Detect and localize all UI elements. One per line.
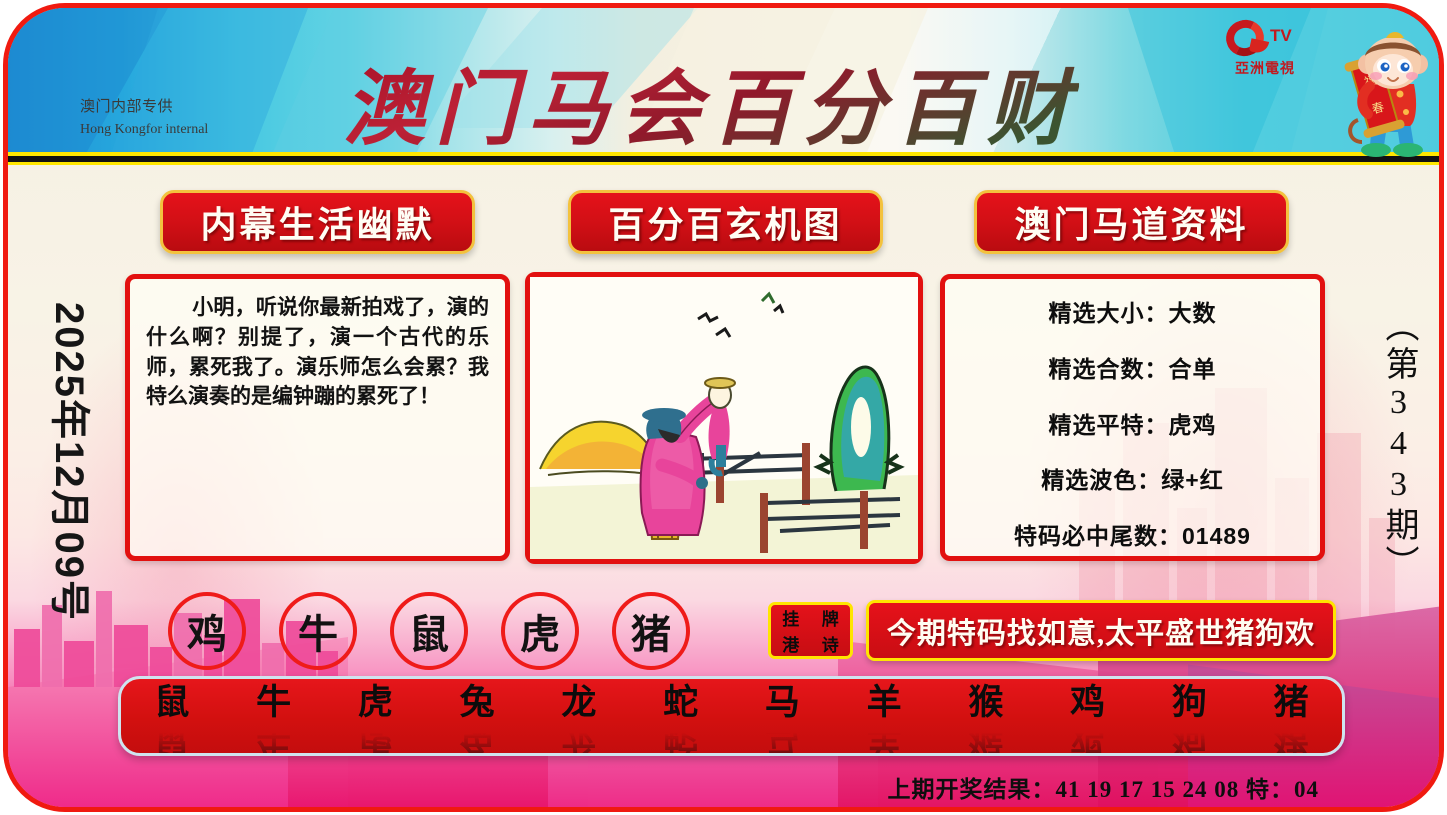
info-row: 精选合数：合单 (957, 345, 1308, 389)
zodiac-strip-item[interactable]: 马马 (743, 685, 821, 755)
guapai-label-box[interactable]: 挂 牌 港 诗 (768, 602, 853, 659)
section-title-joke[interactable]: 内幕生活幽默 (160, 190, 475, 254)
poem-banner[interactable]: 今期特码找如意,太平盛世猪狗欢 (866, 600, 1336, 661)
zodiac-strip-reflection: 马 (743, 718, 821, 755)
info-card: 精选大小：大数 精选合数：合单 精选平特：虎鸡 精选波色：绿+红 特码必中尾数：… (940, 274, 1325, 561)
zodiac-strip-reflection: 虎 (336, 718, 414, 755)
zodiac-strip-reflection: 牛 (235, 718, 313, 755)
section-title-picture-label: 百分百玄机图 (608, 196, 842, 248)
zodiac-strip-item[interactable]: 羊羊 (845, 685, 923, 755)
zodiac-pick-label: 鼠 (409, 602, 449, 660)
zodiac-pick-label: 虎 (520, 602, 560, 660)
guapai-char: 港 (782, 631, 799, 656)
last-draw-result: 上期开奖结果：41 19 17 15 24 08 特：04 (888, 770, 1320, 804)
zodiac-strip-reflection: 狗 (1150, 718, 1228, 755)
zodiac-pick-label: 牛 (298, 602, 338, 660)
zodiac-strip-reflection: 猪 (1252, 718, 1330, 755)
atv-tv-label: TV (1270, 26, 1292, 46)
guapai-char: 诗 (822, 631, 839, 656)
zodiac-strip-label: 蛇 (642, 685, 720, 722)
zodiac-pick-label: 猪 (631, 602, 671, 660)
zodiac-strip-reflection: 羊 (845, 718, 923, 755)
poem-banner-text: 今期特码找如意,太平盛世猪狗欢 (887, 610, 1315, 652)
section-title-info[interactable]: 澳门马道资料 (974, 190, 1289, 254)
zodiac-strip-item[interactable]: 龙龙 (540, 685, 618, 755)
header-subtitle-en: Hong Kongfor internal (80, 119, 320, 140)
zodiac-strip-label: 牛 (235, 685, 313, 722)
zodiac-strip-reflection: 鸡 (1049, 718, 1127, 755)
zodiac-strip-reflection: 龙 (540, 718, 618, 755)
xuanji-illustration (530, 277, 918, 559)
section-title-picture[interactable]: 百分百玄机图 (568, 190, 883, 254)
mascot-monkey-icon: 福 春 (1340, 24, 1440, 164)
zodiac-strip-item[interactable]: 猴猴 (947, 685, 1025, 755)
zodiac-picks: 鸡 牛 鼠 虎 猪 (168, 592, 690, 670)
info-row: 精选大小：大数 (957, 289, 1308, 333)
guapai-char: 挂 (782, 605, 799, 630)
zodiac-strip-item[interactable]: 蛇蛇 (642, 685, 720, 755)
zodiac-strip-label: 兔 (438, 685, 516, 722)
section-title-joke-label: 内幕生活幽默 (200, 196, 434, 248)
zodiac-strip-reflection: 猴 (947, 718, 1025, 755)
zodiac-strip-item[interactable]: 狗狗 (1150, 685, 1228, 755)
zodiac-strip-label: 猴 (947, 685, 1025, 722)
zodiac-strip: 鼠鼠 牛牛 虎虎 兔兔 龙龙 蛇蛇 马马 羊羊 猴猴 鸡鸡 狗狗 猪猪 (118, 676, 1345, 756)
atv-ring-icon (1221, 15, 1268, 61)
info-row: 精选波色：绿+红 (957, 456, 1308, 500)
header-subtitle-cn: 澳门内部专供 (80, 96, 320, 119)
section-title-info-label: 澳门马道资料 (1014, 196, 1248, 248)
issue-number: （第343期） (1377, 308, 1423, 583)
zodiac-pick-label: 鸡 (187, 602, 227, 660)
info-row: 特码必中尾数：01489 (957, 512, 1308, 556)
page-title: 澳门马会百分百财 (343, 42, 1079, 161)
zodiac-pick[interactable]: 虎 (501, 592, 579, 670)
zodiac-strip-label: 马 (743, 685, 821, 722)
zodiac-strip-item[interactable]: 牛牛 (235, 685, 313, 755)
zodiac-strip-reflection: 蛇 (642, 718, 720, 755)
poster-frame: 澳门内部专供 Hong Kongfor internal 澳门马会百分百财 TV… (3, 3, 1444, 812)
zodiac-strip-reflection: 兔 (438, 718, 516, 755)
zodiac-pick[interactable]: 牛 (279, 592, 357, 670)
zodiac-strip-item[interactable]: 兔兔 (438, 685, 516, 755)
zodiac-strip-item[interactable]: 虎虎 (336, 685, 414, 755)
header-subtitle: 澳门内部专供 Hong Kongfor internal (80, 96, 320, 140)
picture-card (525, 272, 923, 564)
info-list: 精选大小：大数 精选合数：合单 精选平特：虎鸡 精选波色：绿+红 特码必中尾数：… (945, 279, 1320, 556)
zodiac-strip-label: 羊 (845, 685, 923, 722)
zodiac-strip-label: 猪 (1252, 685, 1330, 722)
zodiac-pick[interactable]: 猪 (612, 592, 690, 670)
issue-date: 2025年12月09号 (44, 252, 102, 672)
zodiac-strip-label: 龙 (540, 685, 618, 722)
zodiac-strip-label: 狗 (1150, 685, 1228, 722)
zodiac-strip-label: 鸡 (1049, 685, 1127, 722)
info-row: 精选平特：虎鸡 (957, 401, 1308, 445)
zodiac-pick[interactable]: 鸡 (168, 592, 246, 670)
zodiac-strip-label: 虎 (336, 685, 414, 722)
joke-text: 小明，听说你最新拍戏了，演的什么啊？别提了，演一个古代的乐师，累死我了。演乐师怎… (130, 279, 505, 412)
zodiac-pick[interactable]: 鼠 (390, 592, 468, 670)
joke-card: 小明，听说你最新拍戏了，演的什么啊？别提了，演一个古代的乐师，累死我了。演乐师怎… (125, 274, 510, 561)
poster-root: 澳门内部专供 Hong Kongfor internal 澳门马会百分百财 TV… (0, 0, 1447, 815)
atv-logo: TV 亞洲電視 (1220, 18, 1310, 78)
zodiac-strip-item[interactable]: 猪猪 (1252, 685, 1330, 755)
guapai-char: 牌 (822, 605, 839, 630)
zodiac-strip-item[interactable]: 鼠鼠 (133, 685, 211, 755)
zodiac-strip-label: 鼠 (133, 685, 211, 722)
atv-mark-icon: TV (1220, 18, 1310, 58)
zodiac-strip-reflection: 鼠 (133, 718, 211, 755)
atv-cn-label: 亞洲電視 (1220, 58, 1310, 78)
zodiac-strip-item[interactable]: 鸡鸡 (1049, 685, 1127, 755)
